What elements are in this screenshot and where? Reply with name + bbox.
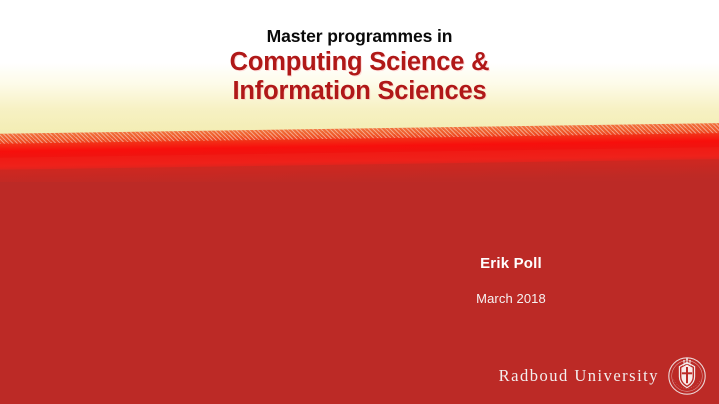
presentation-slide: Master programmes in Computing Science &… [0, 0, 719, 404]
slide-eyebrow: Master programmes in [0, 26, 719, 46]
divider-band-inner [0, 123, 719, 182]
slide-title-line-2: Information Sciences [0, 77, 719, 106]
presenter-name: Erik Poll [421, 255, 601, 272]
decorative-divider-band [0, 120, 719, 182]
title-block: Master programmes in Computing Science &… [0, 26, 719, 106]
slide-title-line-1: Computing Science & [0, 48, 719, 77]
presenter-block: Erik Poll March 2018 [421, 255, 601, 306]
presentation-date: March 2018 [421, 291, 601, 306]
logo-wordmark: Radboud University [499, 366, 659, 386]
radboud-university-logo: Radboud University [499, 356, 707, 396]
radboud-university-seal-icon [667, 356, 707, 396]
